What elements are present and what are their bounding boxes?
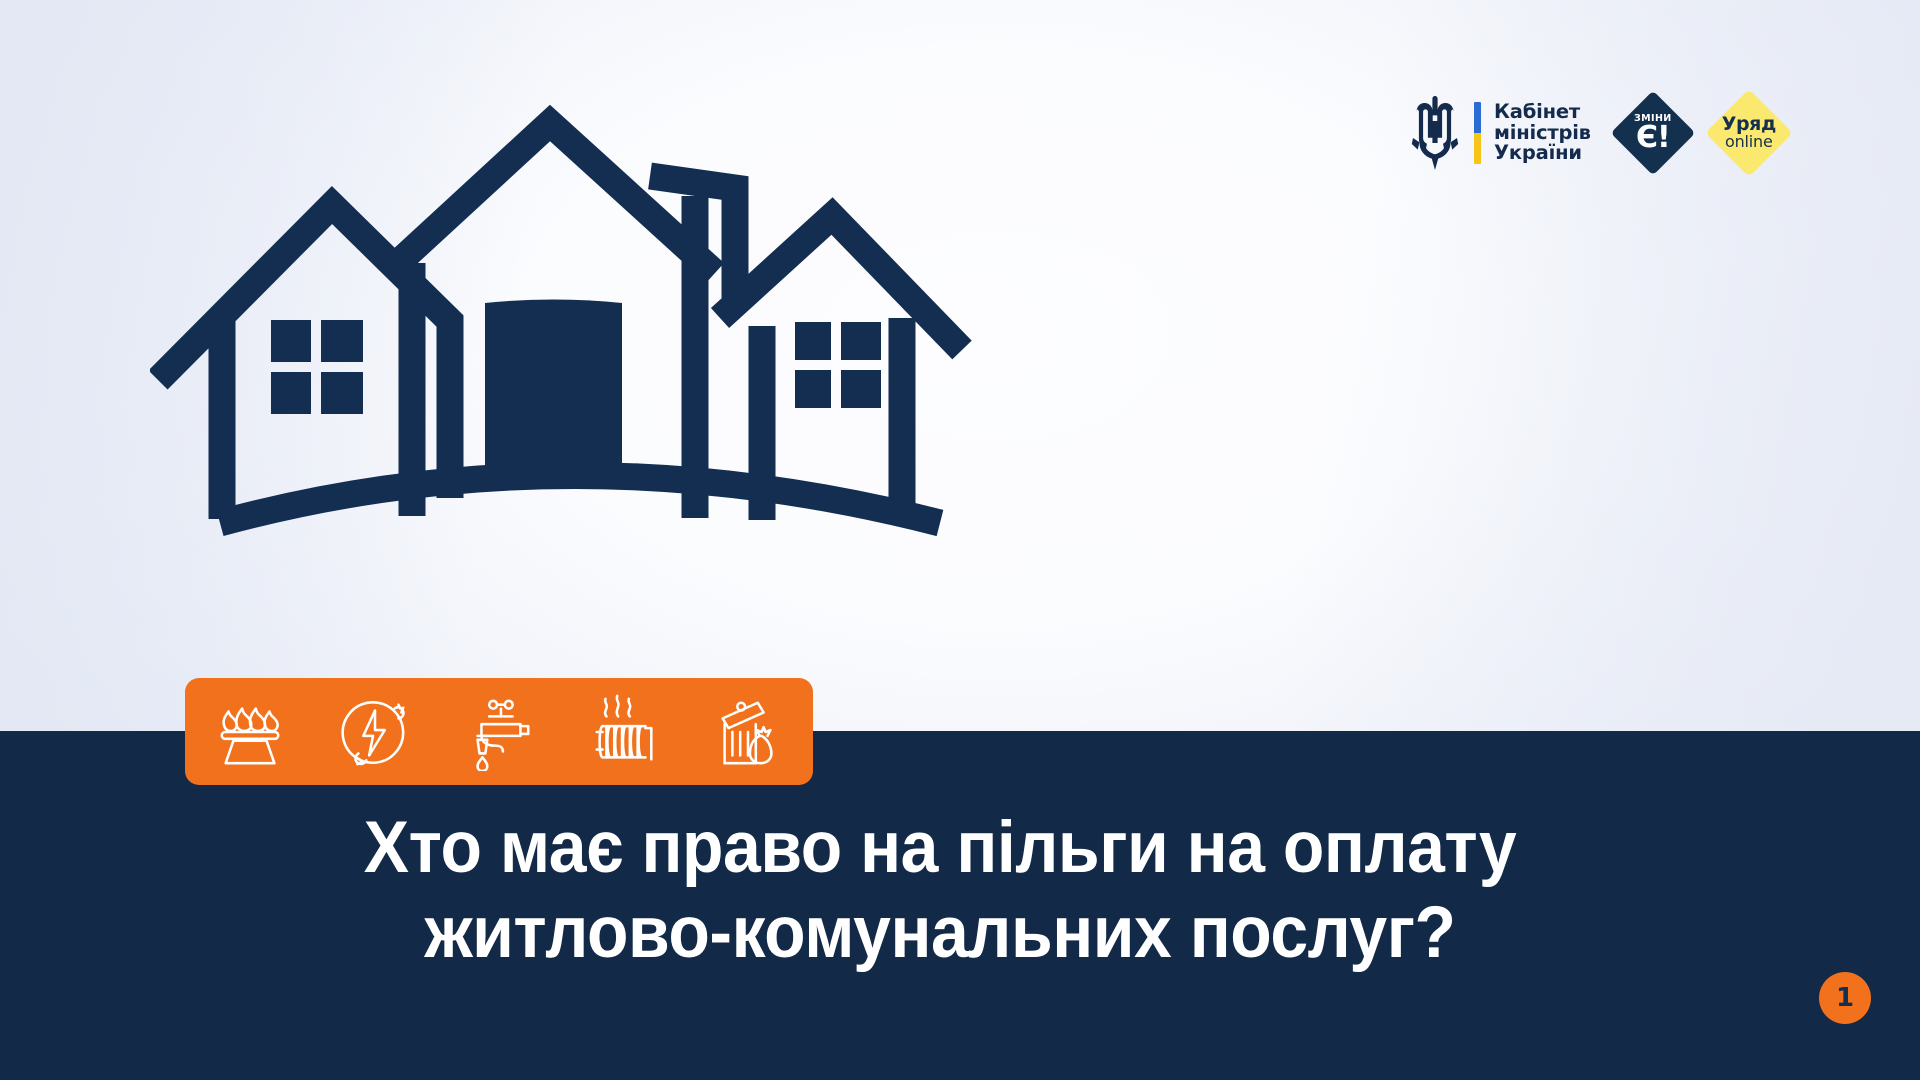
utilities-icon-bar: [185, 678, 813, 785]
trash-bin-icon: [709, 693, 787, 771]
ukraine-tryzub-icon: [1408, 96, 1462, 170]
cmu-flag-divider: [1474, 102, 1481, 164]
radiator-heating-icon: [585, 693, 663, 771]
page-title-line-2: житлово-комунальних послуг?: [243, 891, 1638, 976]
gas-stove-icon: [211, 693, 289, 771]
logo-cluster: Кабінет міністрів України ЗМІНИ Є! Уряд …: [1408, 92, 1793, 174]
page-number-badge: 1: [1819, 972, 1871, 1024]
uryad-online-logo: Уряд online: [1705, 89, 1793, 177]
cabinet-of-ministers-label: Кабінет міністрів України: [1494, 102, 1591, 164]
page-title: Хто має право на пільги на оплату житлов…: [243, 806, 1638, 975]
zminy-main-label: Є!: [1636, 124, 1670, 153]
presentation-slide: Кабінет міністрів України ЗМІНИ Є! Уряд …: [0, 0, 1920, 1080]
houses-outline-illustration: [150, 68, 980, 648]
page-title-line-1: Хто має право на пільги на оплату: [243, 806, 1638, 891]
zminy-ye-logo: ЗМІНИ Є!: [1615, 95, 1691, 171]
electricity-plug-icon: [336, 693, 414, 771]
uryad-bottom-label: online: [1725, 134, 1773, 151]
water-tap-icon: [460, 693, 538, 771]
